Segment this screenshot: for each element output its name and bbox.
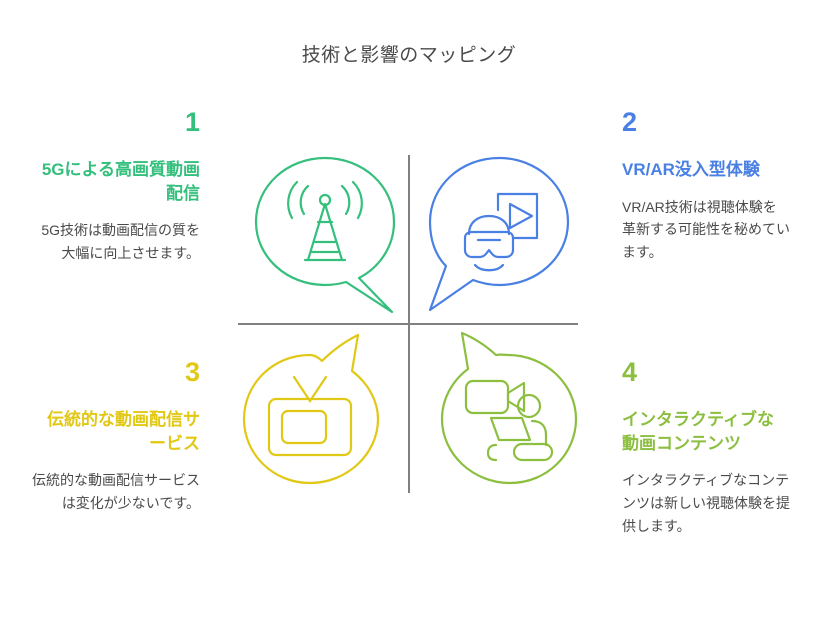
quadrant-number-1: 1 — [32, 108, 200, 136]
quadrant-text-3: 3 伝統的な動画配信サービス 伝統的な動画配信サービスは変化が少ないです。 — [32, 358, 200, 515]
page-title: 技術と影響のマッピング — [0, 40, 818, 67]
quadrant-body-4: インタラクティブなコンテンツは新しい視聴体験を提供します。 — [622, 469, 790, 537]
quadrant-heading-1: 5Gによる高画質動画配信 — [32, 158, 200, 205]
camera-person-laptop-speech-bubble-icon — [412, 327, 582, 495]
quadrant-number-2: 2 — [622, 108, 790, 136]
quadrant-body-3: 伝統的な動画配信サービスは変化が少ないです。 — [32, 469, 200, 514]
quadrant-text-4: 4 インタラクティブな動画コンテンツ インタラクティブなコンテンツは新しい視聴体… — [622, 358, 790, 537]
quadrant-body-1: 5G技術は動画配信の質を大幅に向上させます。 — [32, 219, 200, 264]
broadcast-tower-speech-bubble-icon — [242, 152, 412, 320]
quadrant-heading-4: インタラクティブな動画コンテンツ — [622, 408, 790, 455]
icon-cell-quadrant-2 — [412, 152, 582, 320]
retro-tv-speech-bubble-icon — [242, 327, 412, 495]
quadrant-heading-2: VR/AR没入型体験 — [622, 158, 790, 181]
infographic-canvas: 技術と影響のマッピング — [0, 0, 818, 626]
icon-cell-quadrant-1 — [242, 152, 412, 320]
quadrant-heading-3: 伝統的な動画配信サービス — [32, 408, 200, 455]
vr-goggles-video-speech-bubble-icon — [412, 152, 582, 320]
quadrant-body-2: VR/AR技術は視聴体験を革新する可能性を秘めています。 — [622, 196, 790, 264]
icon-cell-quadrant-3 — [242, 327, 412, 495]
quadrant-number-3: 3 — [32, 358, 200, 386]
icon-cell-quadrant-4 — [412, 327, 582, 495]
quadrant-number-4: 4 — [622, 358, 790, 386]
quadrant-text-1: 1 5Gによる高画質動画配信 5G技術は動画配信の質を大幅に向上させます。 — [32, 108, 200, 265]
quadrant-text-2: 2 VR/AR没入型体験 VR/AR技術は視聴体験を革新する可能性を秘めています… — [622, 108, 790, 264]
